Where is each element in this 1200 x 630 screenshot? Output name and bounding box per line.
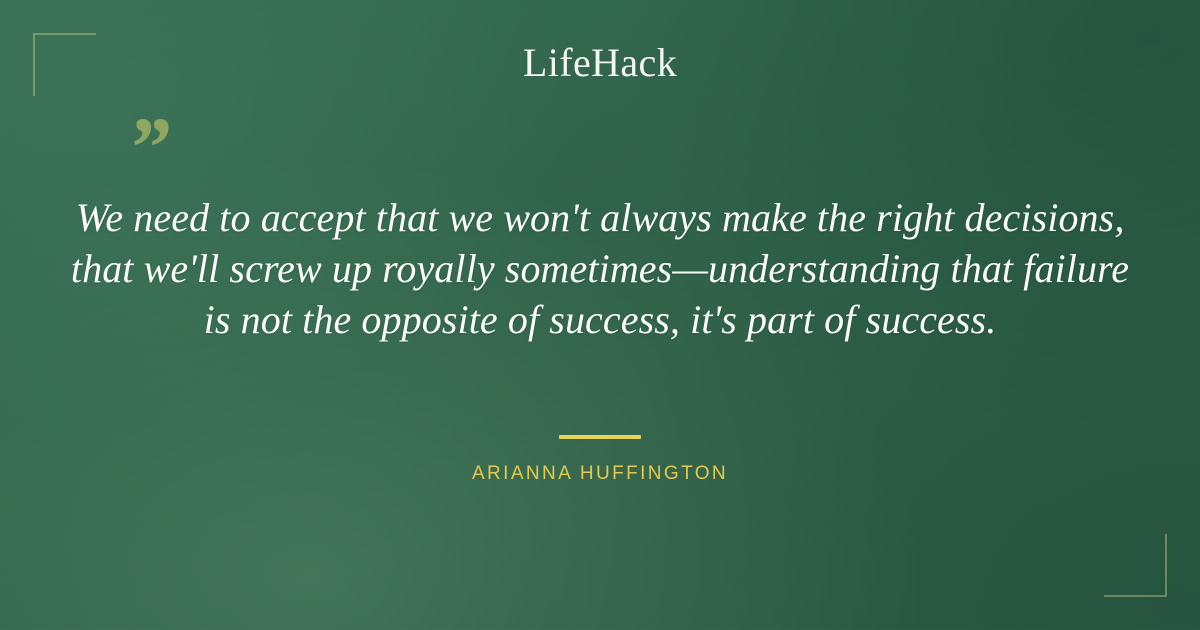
quote-author: ARIANNA HUFFINGTON (0, 462, 1200, 486)
quote-card: LifeHack ” We need to accept that we won… (0, 0, 1200, 630)
quote-block: We need to accept that we won't always m… (60, 192, 1140, 345)
divider-rule (559, 435, 641, 439)
lifehack-logo[interactable]: LifeHack (0, 40, 1200, 86)
quote-text: We need to accept that we won't always m… (60, 192, 1140, 345)
corner-bracket-bottom-right (1104, 534, 1167, 597)
quote-mark-icon: ” (127, 104, 170, 190)
